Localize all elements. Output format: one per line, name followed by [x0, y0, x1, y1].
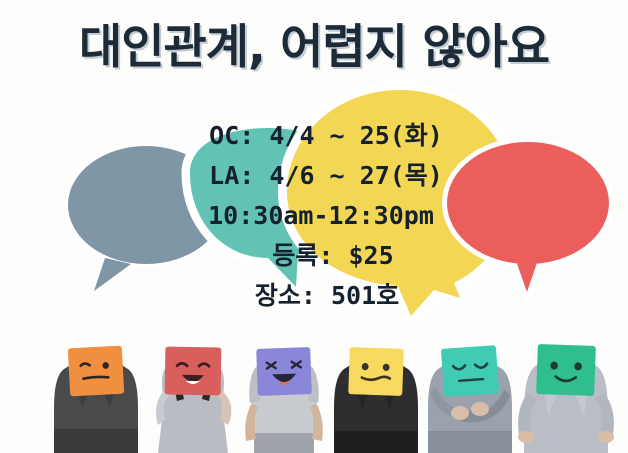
person-1-suit-man [46, 328, 146, 453]
person-5-arms-crossed [420, 328, 520, 453]
person-2-head [165, 347, 222, 396]
person-1-head [68, 346, 124, 397]
person-6-head [536, 344, 596, 396]
face-sleepy-icon [441, 345, 499, 397]
person-4-head [348, 347, 404, 396]
face-smile-icon [536, 344, 596, 396]
person-4-suit-man [326, 328, 426, 453]
face-neutral-wink-icon [68, 346, 124, 397]
face-laughing-icon [256, 347, 312, 396]
poster-canvas: 대인관계, 어렵지 않아요 OC: 4/4 ~ 25(화) LA: 4/6 ~ … [0, 0, 628, 453]
person-2-dress-woman [144, 328, 242, 453]
person-5-head [441, 345, 499, 397]
face-flat-smile-icon [348, 347, 404, 396]
poster-title: 대인관계, 어렵지 않아요 [0, 8, 628, 77]
people-row [0, 328, 628, 453]
face-big-smile-icon [165, 347, 222, 396]
person-6-cardigan-woman [514, 328, 618, 453]
person-3-tshirt-man [238, 328, 330, 453]
person-3-head [256, 347, 312, 396]
